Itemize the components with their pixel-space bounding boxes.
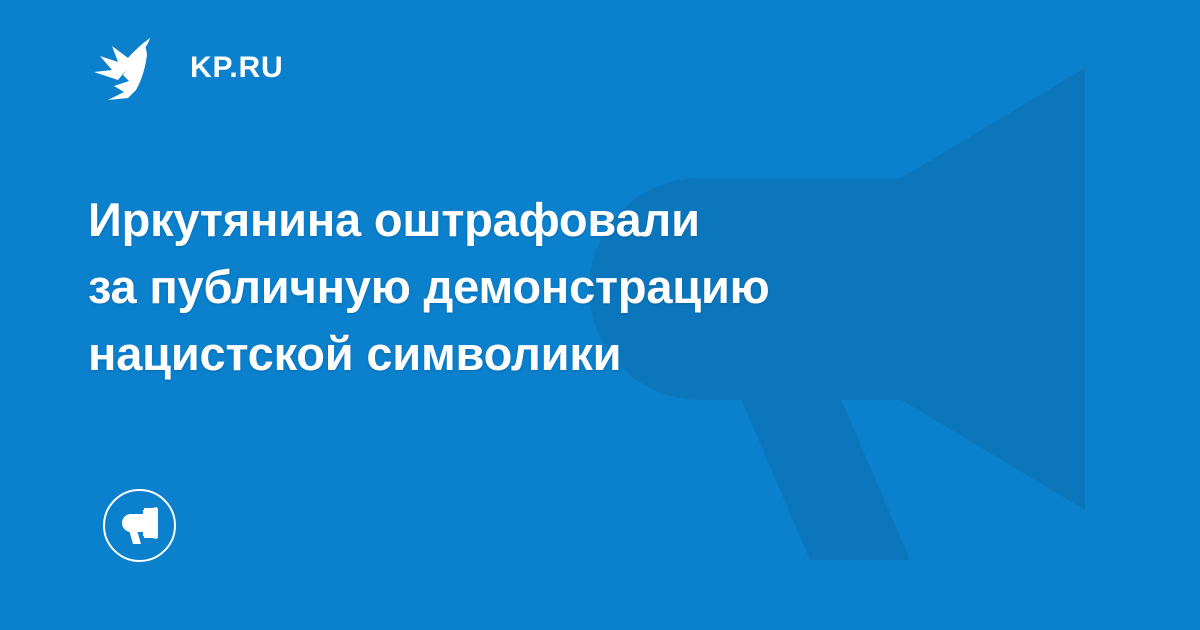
headline-line: нацистской символики xyxy=(88,320,988,387)
share-card: KP.RU Иркутянина оштрафовали за публичну… xyxy=(0,0,1200,630)
megaphone-badge[interactable] xyxy=(103,489,176,562)
headline-line: за публичную демонстрацию xyxy=(88,253,988,320)
page-title: Иркутянина оштрафовали за публичную демо… xyxy=(88,186,988,387)
swallow-bird-logo-icon xyxy=(88,32,166,104)
brand-header[interactable]: KP.RU xyxy=(88,32,283,104)
megaphone-icon xyxy=(119,507,161,545)
brand-name: KP.RU xyxy=(190,53,283,83)
headline-line: Иркутянина оштрафовали xyxy=(88,186,988,253)
